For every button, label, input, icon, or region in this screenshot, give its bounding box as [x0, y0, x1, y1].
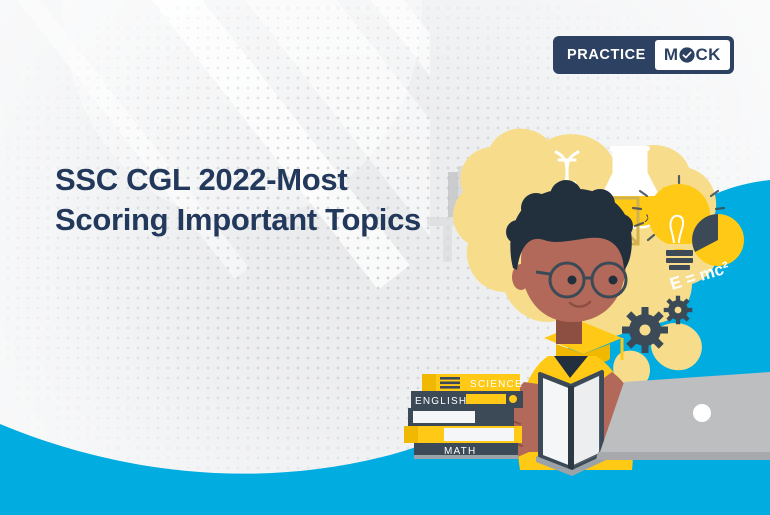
logo-mock-m: M	[664, 45, 679, 65]
page-title: SSC CGL 2022-Most Scoring Important Topi…	[55, 160, 425, 240]
check-circle-icon	[679, 47, 695, 63]
logo-practice-word: PRACTICE	[557, 40, 655, 70]
pie-chart-icon	[692, 214, 744, 266]
book-label-science: SCIENCE	[470, 379, 523, 390]
open-book-icon	[536, 372, 606, 476]
book-label-english: ENGLISH	[415, 396, 467, 407]
logo-mock-word: M CK	[655, 40, 730, 70]
logo-mock-ck: CK	[695, 45, 720, 65]
book-stack: SCIENCE ENGLISH MATH	[404, 374, 523, 459]
promo-banner: x	[0, 0, 770, 515]
illustration-layer: x	[0, 0, 770, 515]
practicemock-logo[interactable]: PRACTICE M CK	[553, 36, 734, 74]
